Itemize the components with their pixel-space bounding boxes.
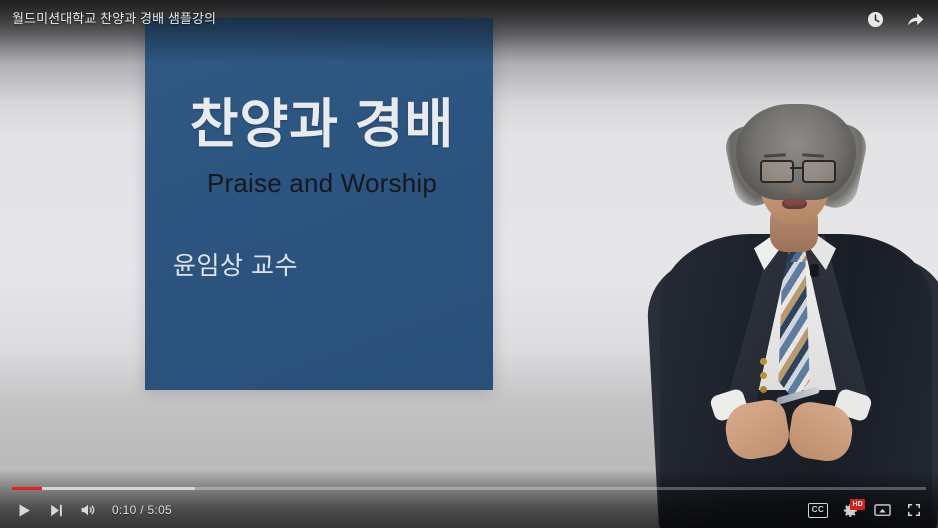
lecture-slide: 찬양과 경배 Praise and Worship 윤임상 교수: [145, 18, 493, 390]
progress-bar[interactable]: [12, 482, 926, 494]
controls-row: 0:10 / 5:05 CC HD: [0, 494, 938, 526]
presenter-figure: [650, 92, 938, 528]
cast-to-tv-icon[interactable]: [866, 495, 898, 525]
controls-left-group: 0:10 / 5:05: [8, 495, 172, 525]
captions-button[interactable]: CC: [802, 495, 834, 525]
share-icon[interactable]: [902, 6, 928, 32]
suit-buttons: [760, 372, 767, 379]
slide-title: 찬양과 경배: [163, 96, 481, 153]
play-button[interactable]: [8, 495, 40, 525]
settings-button[interactable]: HD: [834, 495, 866, 525]
fullscreen-icon[interactable]: [898, 495, 930, 525]
presenter-eyeglasses: [760, 160, 832, 180]
volume-button[interactable]: [72, 495, 104, 525]
watch-later-icon[interactable]: [862, 6, 888, 32]
captions-label: CC: [808, 503, 829, 518]
video-frame[interactable]: 찬양과 경배 Praise and Worship 윤임상 교수: [0, 0, 938, 528]
time-display: 0:10 / 5:05: [112, 503, 172, 517]
top-action-buttons: [862, 6, 928, 32]
player-controls: 0:10 / 5:05 CC HD: [0, 488, 938, 528]
progress-track[interactable]: [12, 487, 926, 490]
presenter-mouth: [782, 198, 807, 209]
eyeglass-lens-left: [760, 160, 794, 183]
presenter-nose: [788, 180, 801, 194]
quality-badge: HD: [850, 499, 865, 510]
video-player[interactable]: 찬양과 경배 Praise and Worship 윤임상 교수: [0, 0, 938, 528]
video-title[interactable]: 월드미션대학교 찬양과 경배 샘플강의: [12, 8, 216, 27]
eyeglass-bridge: [790, 167, 802, 169]
next-video-button[interactable]: [40, 495, 72, 525]
eyeglass-lens-right: [802, 160, 836, 183]
lapel-microphone-icon: [810, 264, 819, 277]
slide-presenter-name: 윤임상 교수: [173, 246, 298, 282]
slide-subtitle: Praise and Worship: [163, 168, 481, 199]
controls-right-group: CC HD: [802, 495, 930, 525]
